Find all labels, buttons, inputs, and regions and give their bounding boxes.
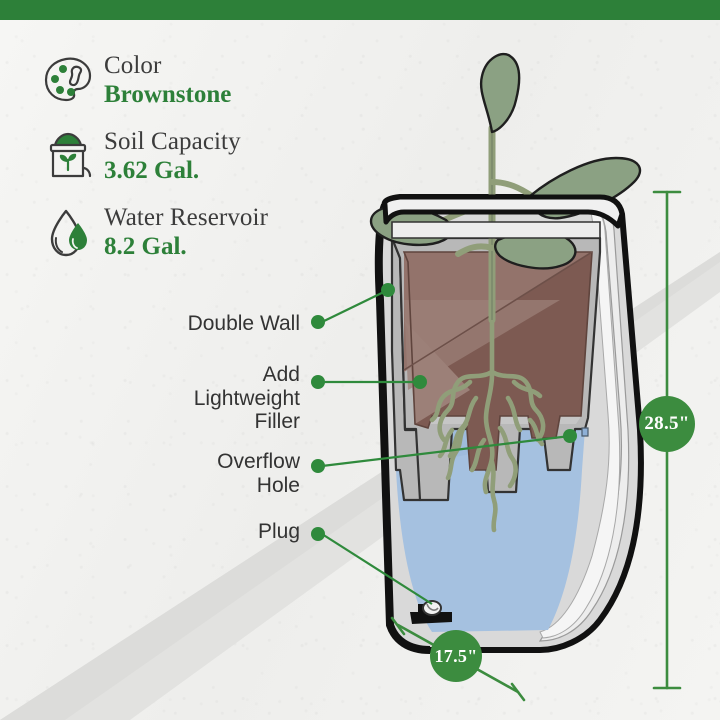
specs-panel: Color Brownstone Soil Capacity 3.62 Gal. [40, 52, 340, 280]
callout-label-lightweight-filler: Add Lightweight Filler [100, 363, 300, 434]
water-drop-icon [40, 204, 96, 258]
spec-row-water-reservoir: Water Reservoir 8.2 Gal. [40, 204, 340, 262]
spec-row-soil-capacity: Soil Capacity 3.62 Gal. [40, 128, 340, 186]
callout-label-plug: Plug [100, 520, 300, 544]
overflow-hole-detail [582, 428, 588, 436]
callout-label-double-wall: Double Wall [100, 312, 300, 336]
callout-label-overflow-hole: Overflow Hole [100, 450, 300, 497]
soil-bag-icon [40, 128, 96, 180]
spec-value-color: Brownstone [104, 80, 231, 110]
paint-palette-icon [40, 52, 96, 102]
spec-value-water-reservoir: 8.2 Gal. [104, 232, 268, 262]
spec-label-water-reservoir: Water Reservoir [104, 204, 268, 232]
spec-label-color: Color [104, 52, 231, 80]
dimension-badge-width: 17.5" [430, 630, 482, 682]
spec-label-soil-capacity: Soil Capacity [104, 128, 241, 156]
spec-value-soil-capacity: 3.62 Gal. [104, 156, 241, 186]
spec-row-color: Color Brownstone [40, 52, 340, 110]
dimension-badge-height: 28.5" [639, 396, 695, 452]
